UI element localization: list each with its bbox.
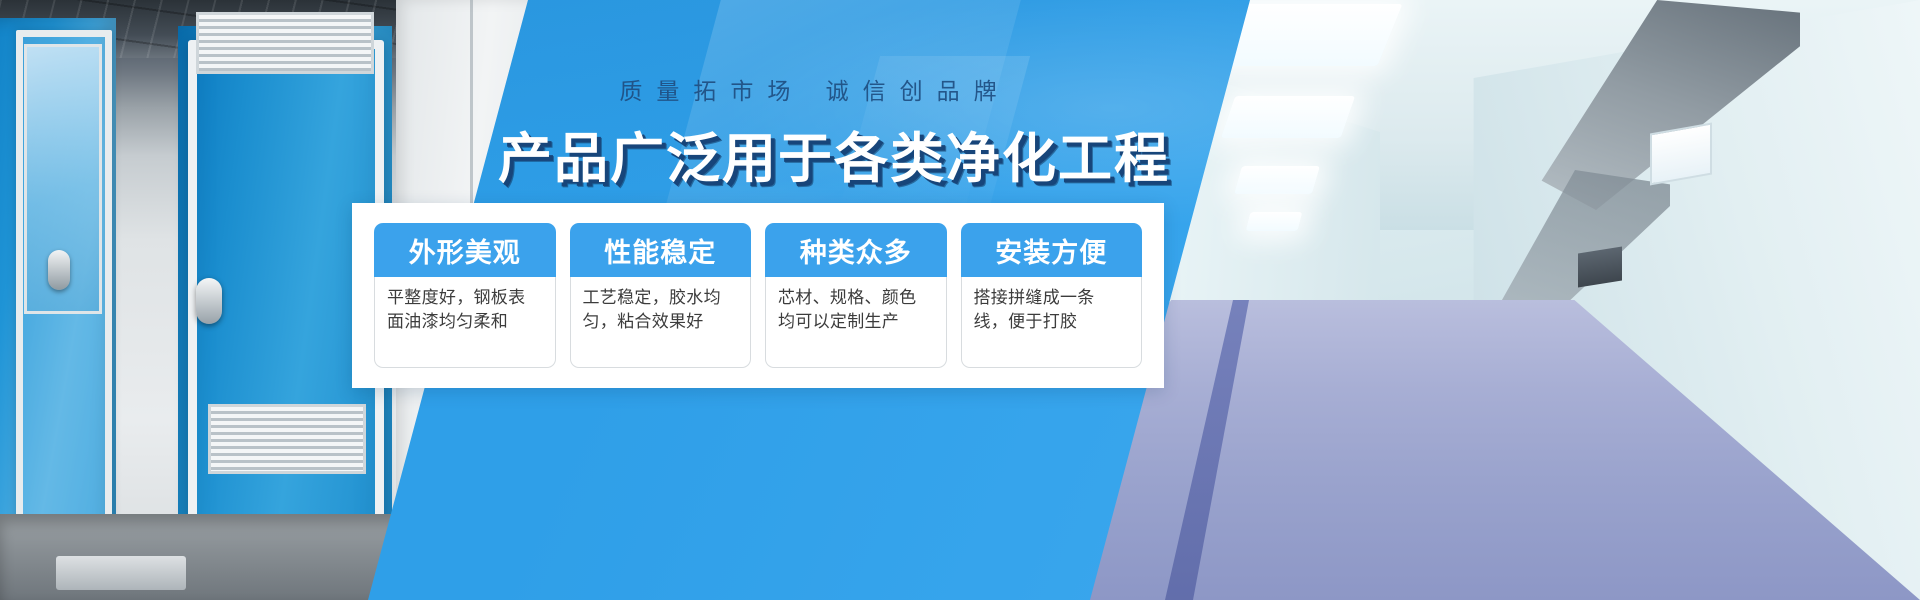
ceiling-light-panel [1221,96,1355,138]
feature-card-4[interactable]: 安装方便 搭接拼缝成一条线，便于打胶 [961,223,1143,368]
feature-card-3[interactable]: 种类众多 芯材、规格、颜色均可以定制生产 [765,223,947,368]
duct-vent-plate [1578,247,1622,288]
banner-headline: 产品广泛用于各类净化工程 [498,114,1118,193]
ceiling-light-panel [1234,166,1320,194]
banner-tagline: 质量拓市场 诚信创品牌 [528,72,1088,106]
ceiling-light-panel [1246,212,1303,231]
feature-card-body: 芯材、规格、颜色均可以定制生产 [765,277,947,368]
feature-cards-panel: 外形美观 平整度好，钢板表面油漆均匀柔和 性能稳定 工艺稳定，胶水均匀，粘合效果… [352,203,1164,388]
feature-card-title: 种类众多 [765,223,947,277]
floor-pallet [56,556,186,590]
feature-cards-list: 外形美观 平整度好，钢板表面油漆均匀柔和 性能稳定 工艺稳定，胶水均匀，粘合效果… [352,203,1164,388]
feature-card-body: 平整度好，钢板表面油漆均匀柔和 [374,277,556,368]
feature-card-title: 外形美观 [374,223,556,277]
feature-card-title: 安装方便 [961,223,1143,277]
feature-card-body: 工艺稳定，胶水均匀，粘合效果好 [570,277,752,368]
feature-card-body: 搭接拼缝成一条线，便于打胶 [961,277,1143,368]
louver-vent-top [196,12,374,74]
wall-signage-plate [1650,123,1712,186]
louver-vent-bottom [208,404,366,474]
cabin-handle-main [196,278,222,324]
feature-card-1[interactable]: 外形美观 平整度好，钢板表面油漆均匀柔和 [374,223,556,368]
cabin-handle-left [48,250,70,290]
feature-card-2[interactable]: 性能稳定 工艺稳定，胶水均匀，粘合效果好 [570,223,752,368]
feature-card-title: 性能稳定 [570,223,752,277]
promo-banner: 质量拓市场 诚信创品牌 产品广泛用于各类净化工程 外形美观 平整度好，钢板表面油… [0,0,1920,600]
